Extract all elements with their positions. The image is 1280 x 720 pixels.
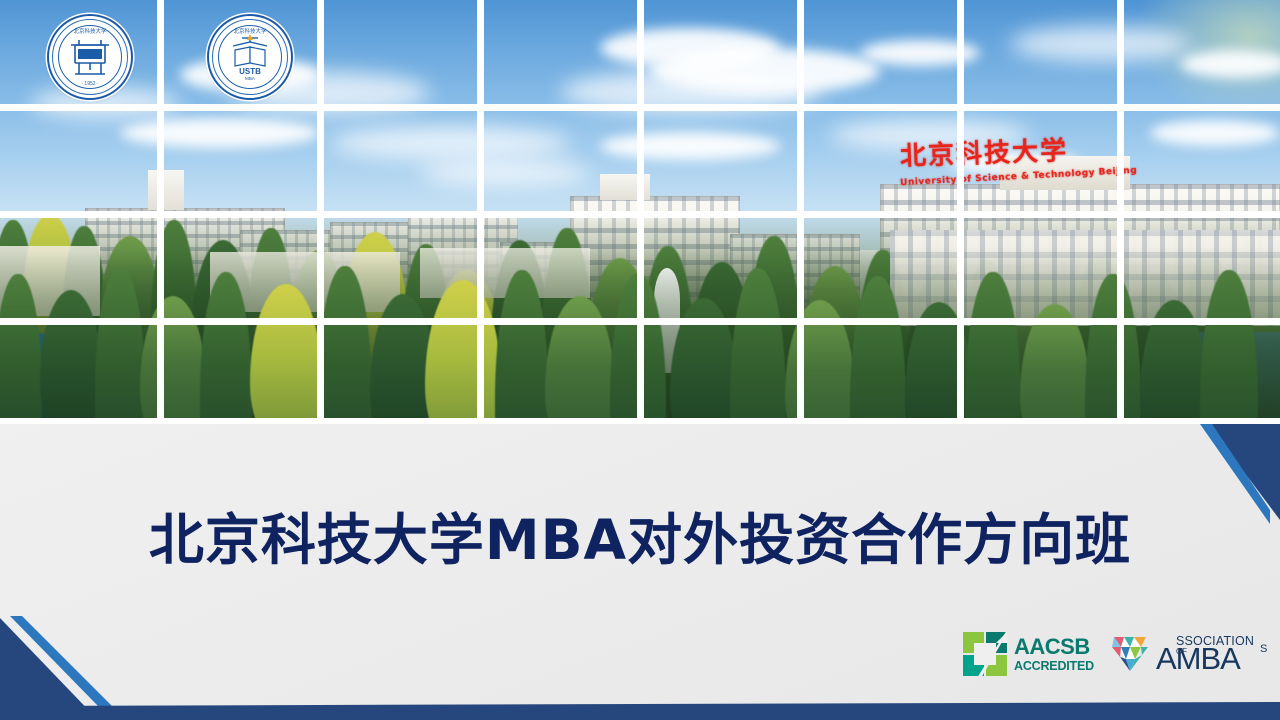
building-tower <box>600 174 650 200</box>
bottom-bar-shape <box>0 702 1280 720</box>
slide-root: 北京科技大学 University of Science & Technolog… <box>0 0 1280 720</box>
cloud-shape <box>860 40 980 66</box>
cloud-shape <box>1180 50 1280 78</box>
tree <box>40 290 102 424</box>
tree <box>1085 274 1141 424</box>
page-title: 北京科技大学MBA对外投资合作方向班 <box>0 495 1280 575</box>
cloud-shape <box>1010 26 1190 62</box>
cloud-shape <box>560 70 820 114</box>
open-book-icon: USTB MBA 北京科技大学 <box>209 16 291 98</box>
tree <box>965 272 1021 424</box>
amba-plural: S <box>1260 643 1267 655</box>
aacsb-status: ACCREDITED <box>1014 660 1094 673</box>
front-tree-band <box>0 250 1280 424</box>
tree <box>140 296 206 424</box>
tree <box>95 268 145 424</box>
aacsb-name: AACSB <box>1014 636 1094 658</box>
tree <box>250 284 322 424</box>
tree <box>850 276 906 424</box>
amba-main: AMBA <box>1156 641 1240 677</box>
svg-text:北京科技大学: 北京科技大学 <box>233 27 267 35</box>
tree <box>425 280 501 424</box>
tree <box>785 300 855 424</box>
aacsb-logo: AACSB ACCREDITED <box>963 632 1094 676</box>
accreditation-logos: AACSB ACCREDITED <box>963 627 1274 681</box>
amba-diamond-icon <box>1108 633 1152 675</box>
tree <box>545 296 615 424</box>
tree <box>200 272 252 424</box>
bottom-bar <box>0 690 1280 720</box>
tree <box>1140 300 1208 424</box>
ustb-mba-seal: USTB MBA 北京科技大学 <box>207 14 293 100</box>
rooftop-sign-cn: 北京科技大学 <box>899 130 1068 173</box>
svg-text:MBA: MBA <box>245 76 256 81</box>
tree <box>1020 304 1090 424</box>
amba-text: SSOCIATION OF AMBA S <box>1156 634 1274 674</box>
ding-vessel-icon: · 1952 · 北京科技大学 <box>49 16 131 98</box>
svg-text:USTB: USTB <box>239 67 261 76</box>
tree <box>610 274 666 424</box>
campus-photo-banner: 北京科技大学 University of Science & Technolog… <box>0 0 1280 424</box>
tree <box>670 298 738 424</box>
campus-photo: 北京科技大学 University of Science & Technolog… <box>0 0 1280 424</box>
tree <box>905 302 973 424</box>
tree <box>1200 270 1258 424</box>
tree <box>730 268 786 424</box>
svg-text:· 1952 ·: · 1952 · <box>81 81 99 87</box>
tree <box>0 274 42 424</box>
building-tower <box>148 170 184 210</box>
svg-text:北京科技大学: 北京科技大学 <box>73 27 107 35</box>
aacsb-text: AACSB ACCREDITED <box>1014 636 1094 673</box>
aacsb-mark-icon <box>963 632 1007 676</box>
amba-logo: SSOCIATION OF AMBA S <box>1108 633 1274 675</box>
tree <box>495 270 549 424</box>
tree <box>318 266 372 424</box>
university-seal: · 1952 · 北京科技大学 <box>47 14 133 100</box>
